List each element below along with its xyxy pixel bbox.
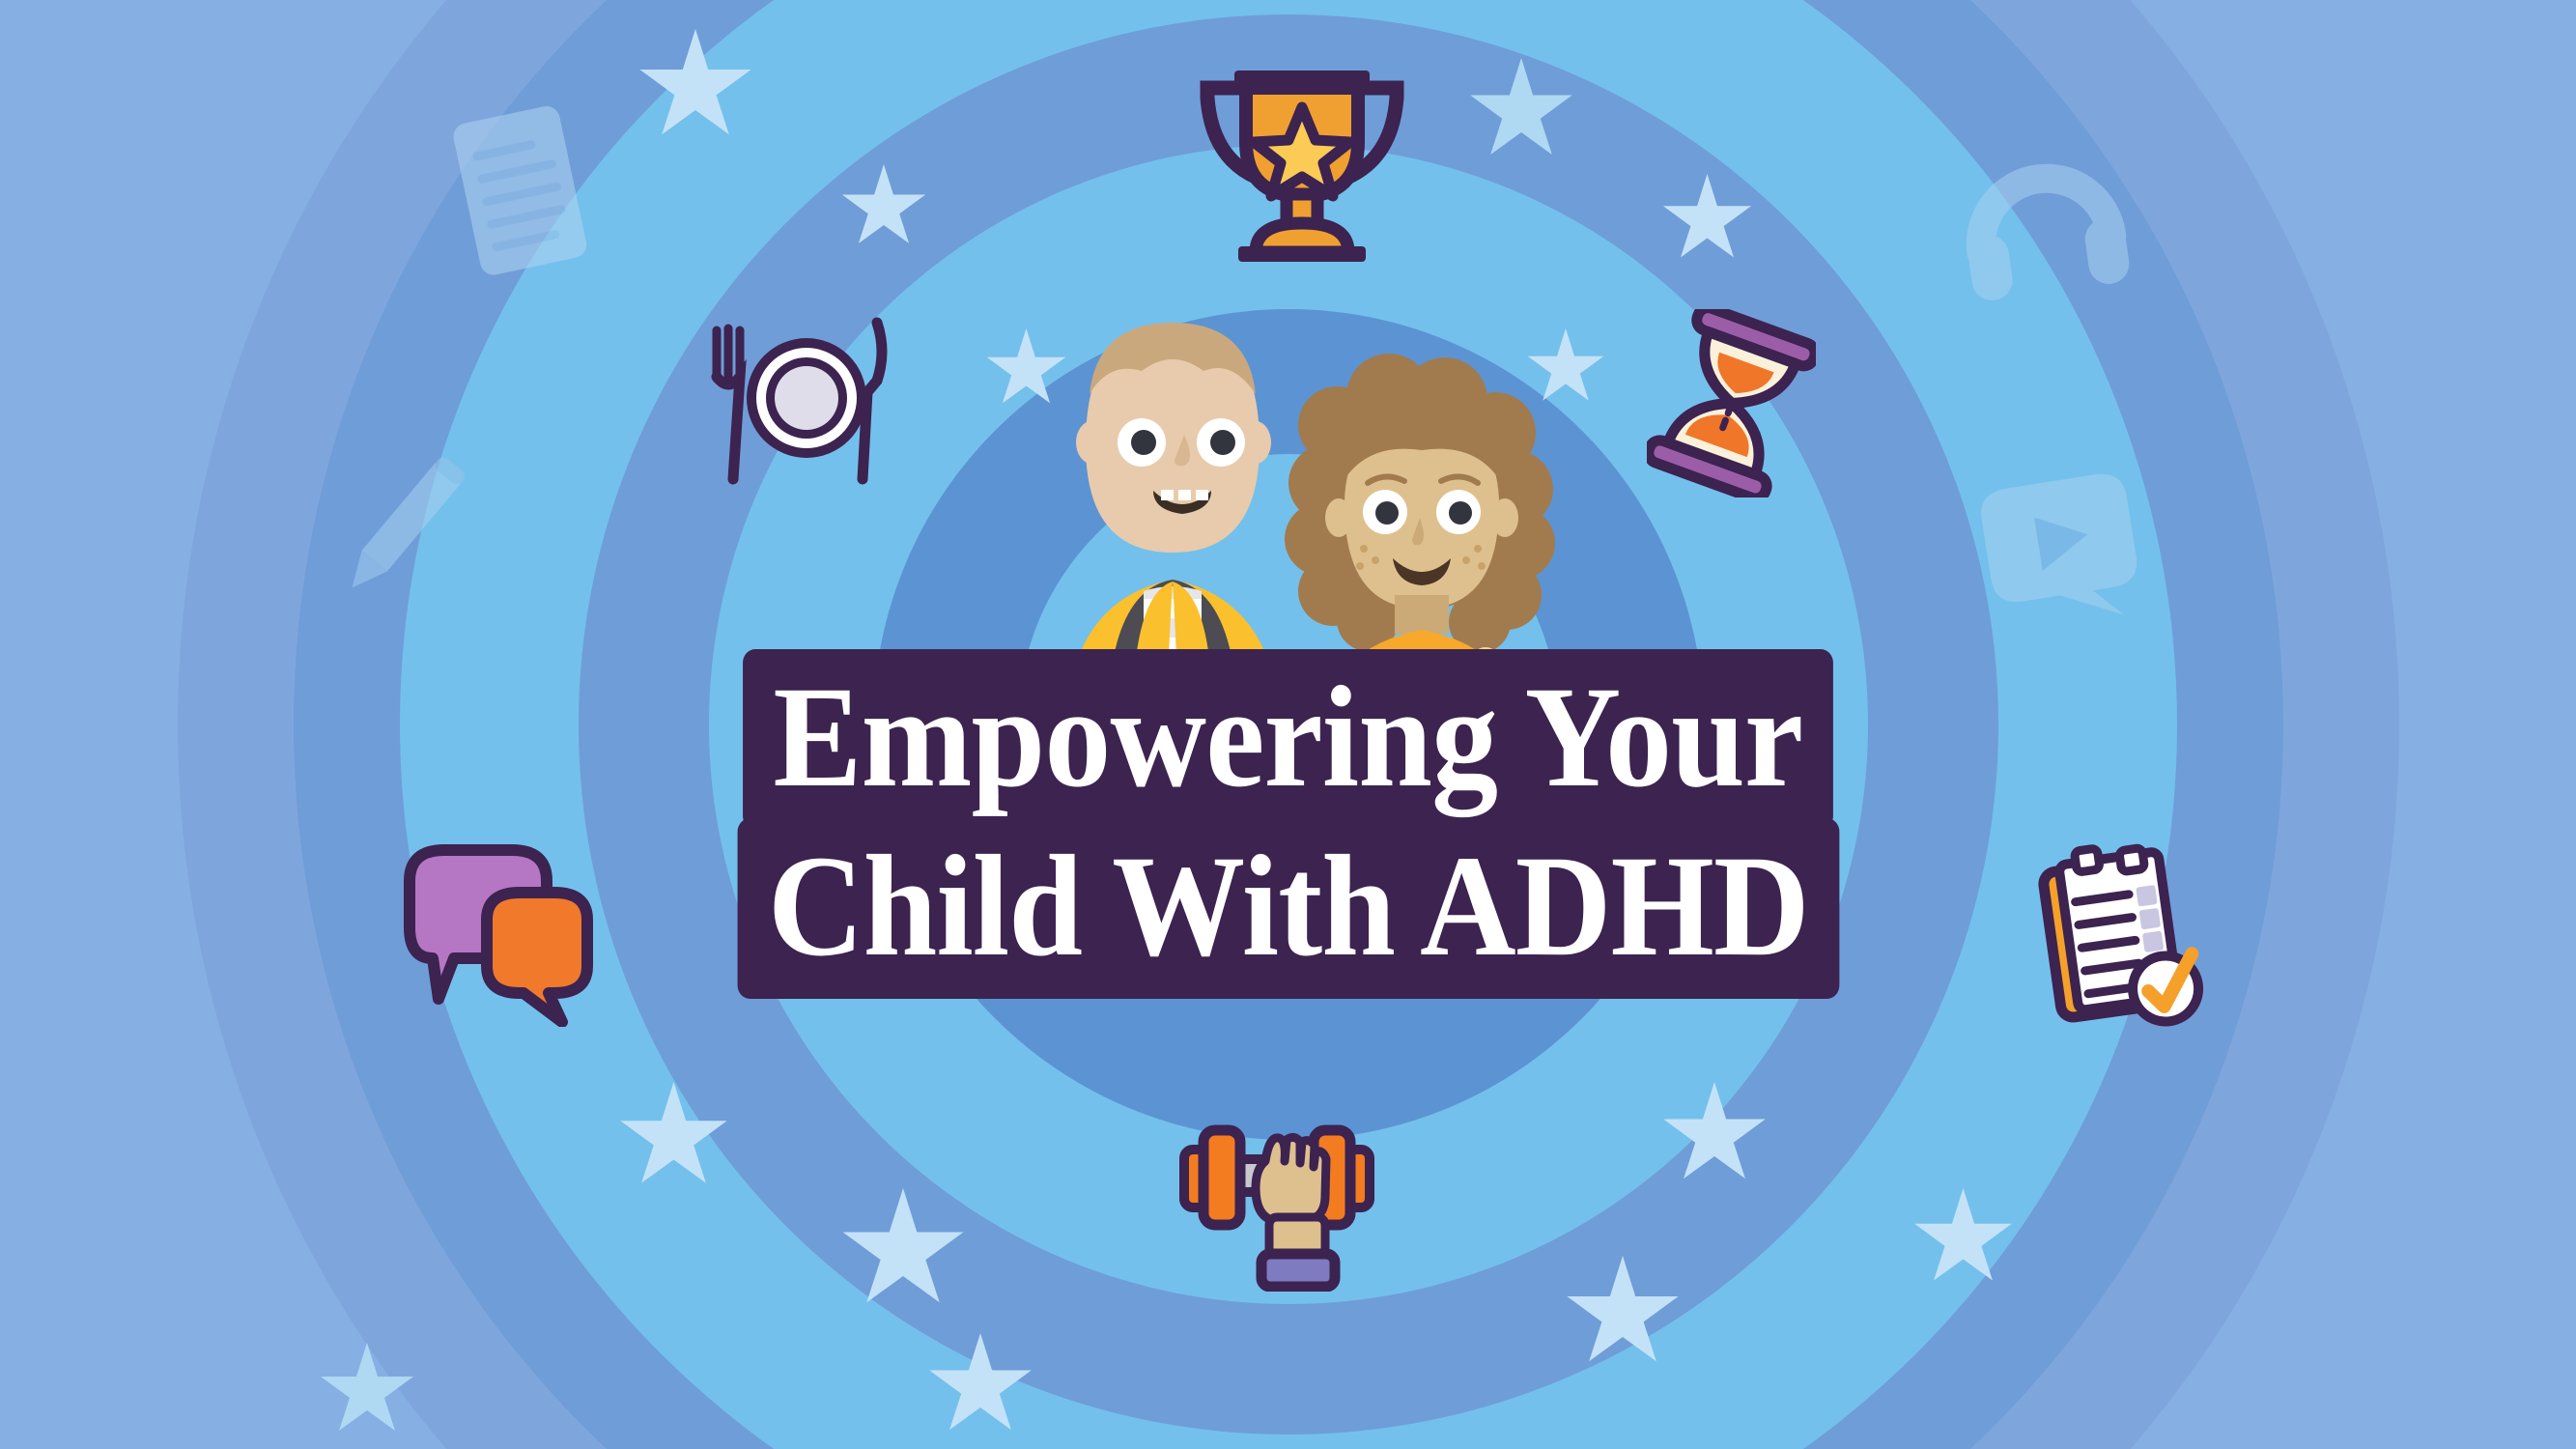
headphones-icon [1956,130,2130,304]
banner-canvas: Empowering Your Child With ADHD [0,0,2576,1449]
video-play-icon [1970,473,2149,633]
speech-bubbles-icon [394,838,602,1027]
hourglass-icon [1647,309,1816,497]
girl-character [1285,354,1555,744]
characters-group [1049,290,1590,744]
boy-character [1064,323,1281,744]
trophy-icon [1196,53,1408,266]
dumbbell-hand-icon [1155,1113,1397,1292]
clipboard-check-icon [2034,838,2227,1032]
document-icon [439,101,604,285]
pencil-icon [290,435,512,618]
plate-cutlery-icon [688,309,891,488]
